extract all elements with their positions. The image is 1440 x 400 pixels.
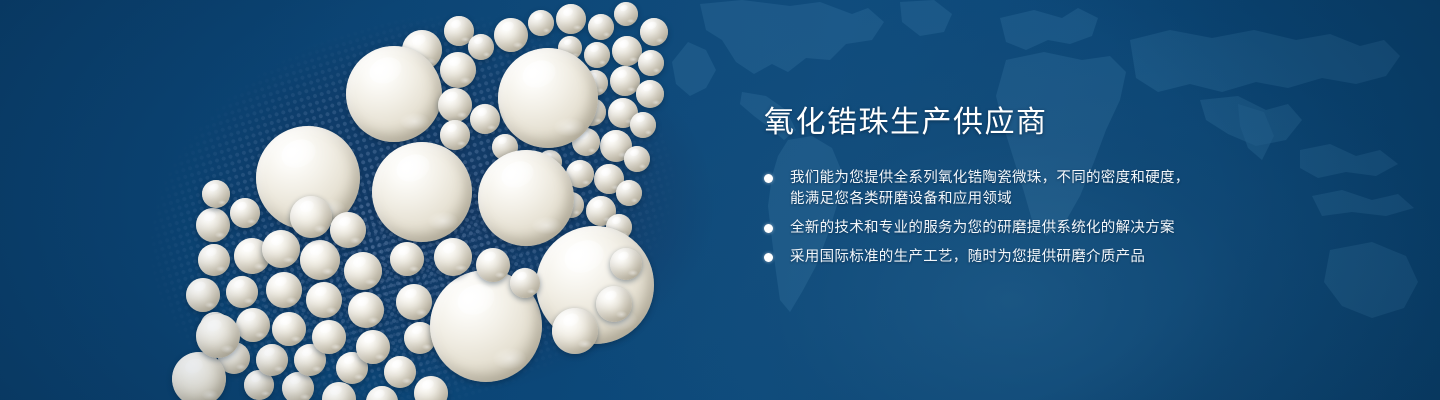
bullet-line: 全新的技术和专业的服务为您的研磨提供系统化的解决方案 (790, 218, 1402, 239)
list-item: 全新的技术和专业的服务为您的研磨提供系统化的解决方案 (762, 218, 1402, 239)
zirconia-bead-cluster-image (0, 0, 760, 400)
banner-text-block: 氧化锆珠生产供应商 我们能为您提供全系列氧化锆陶瓷微珠，不同的密度和硬度， 能满… (762, 104, 1402, 268)
list-item: 采用国际标准的生产工艺，随时为您提供研磨介质产品 (762, 247, 1402, 268)
bullet-dot-icon (764, 224, 773, 233)
bullet-line: 采用国际标准的生产工艺，随时为您提供研磨介质产品 (790, 247, 1402, 268)
bullet-line: 我们能为您提供全系列氧化锆陶瓷微珠，不同的密度和硬度， (790, 168, 1402, 189)
banner-feature-list: 我们能为您提供全系列氧化锆陶瓷微珠，不同的密度和硬度， 能满足您各类研磨设备和应… (762, 168, 1402, 268)
bullet-dot-icon (764, 253, 773, 262)
bullet-line: 能满足您各类研磨设备和应用领域 (790, 189, 1402, 210)
banner-headline: 氧化锆珠生产供应商 (764, 104, 1402, 142)
bullet-dot-icon (764, 174, 773, 183)
hero-banner: 氧化锆珠生产供应商 我们能为您提供全系列氧化锆陶瓷微珠，不同的密度和硬度， 能满… (0, 0, 1440, 400)
list-item: 我们能为您提供全系列氧化锆陶瓷微珠，不同的密度和硬度， 能满足您各类研磨设备和应… (762, 168, 1402, 210)
